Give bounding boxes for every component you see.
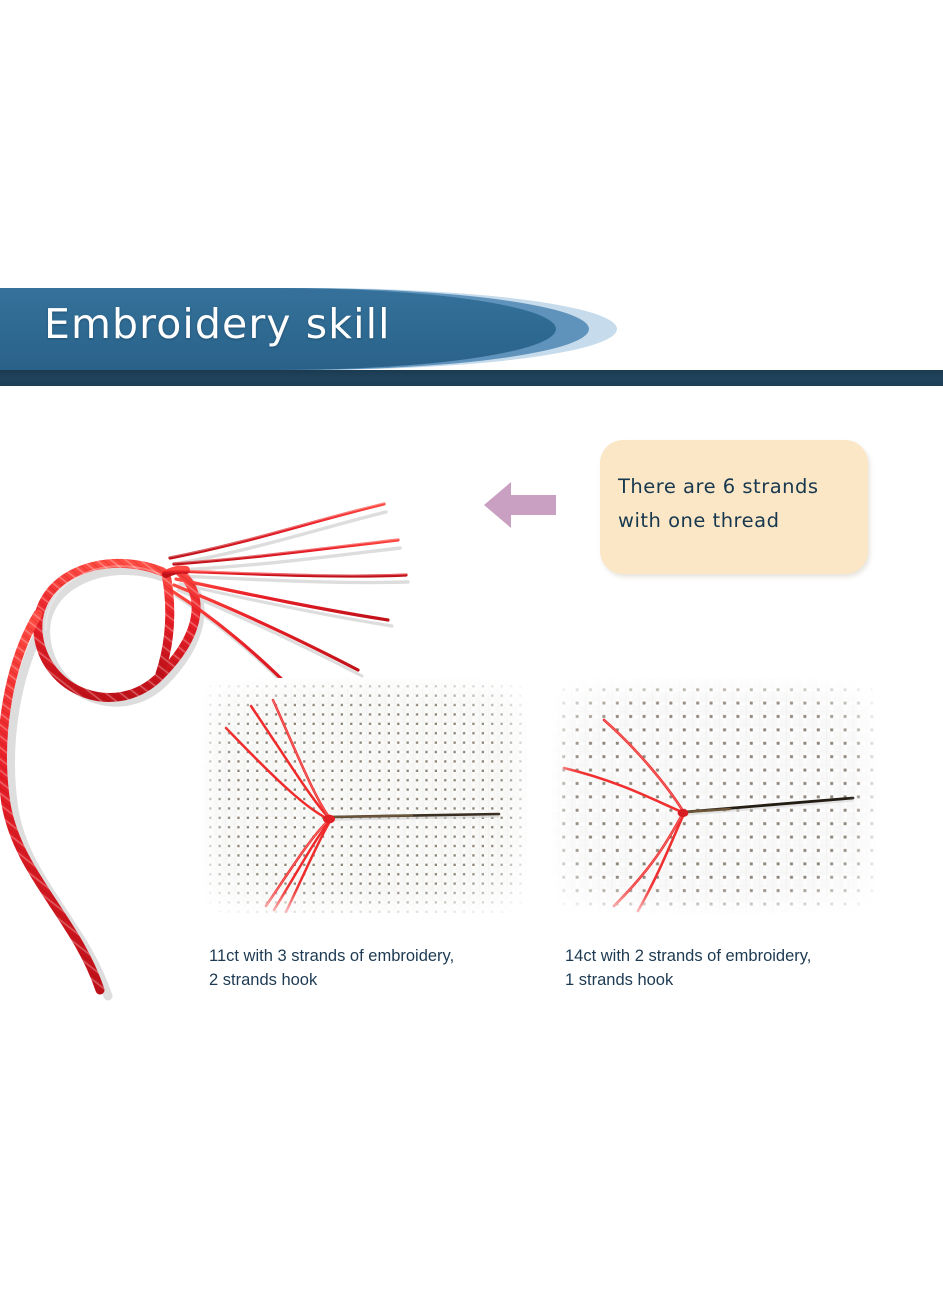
banner-underline bbox=[0, 370, 943, 386]
callout-text: There are 6 strands with one thread bbox=[618, 470, 854, 538]
caption-right-line-1: 14ct with 2 strands of embroidery, bbox=[565, 944, 895, 968]
thread-strands-11ct bbox=[226, 700, 329, 912]
photo-14ct-fabric bbox=[552, 678, 876, 913]
caption-14ct: 14ct with 2 strands of embroidery, 1 str… bbox=[565, 944, 895, 992]
caption-left-line-1: 11ct with 3 strands of embroidery, bbox=[209, 944, 539, 968]
slide-canvas: Embroidery skill bbox=[0, 0, 943, 1312]
caption-left-line-2: 2 strands hook bbox=[209, 968, 539, 992]
thread-and-needle-14ct bbox=[552, 678, 876, 913]
caption-right-line-2: 1 strands hook bbox=[565, 968, 895, 992]
needle-14ct bbox=[685, 798, 853, 814]
caption-11ct: 11ct with 3 strands of embroidery, 2 str… bbox=[209, 944, 539, 992]
arrow-left-icon bbox=[484, 478, 556, 532]
needle-11ct bbox=[331, 814, 499, 819]
thread-and-needle-11ct bbox=[202, 678, 527, 913]
callout-line-1: There are 6 strands bbox=[618, 470, 854, 504]
thread-strands-14ct bbox=[564, 720, 683, 911]
photo-11ct-fabric bbox=[202, 678, 527, 913]
callout-box: There are 6 strands with one thread bbox=[600, 440, 868, 574]
page-title: Embroidery skill bbox=[44, 296, 564, 356]
callout-line-2: with one thread bbox=[618, 504, 854, 538]
